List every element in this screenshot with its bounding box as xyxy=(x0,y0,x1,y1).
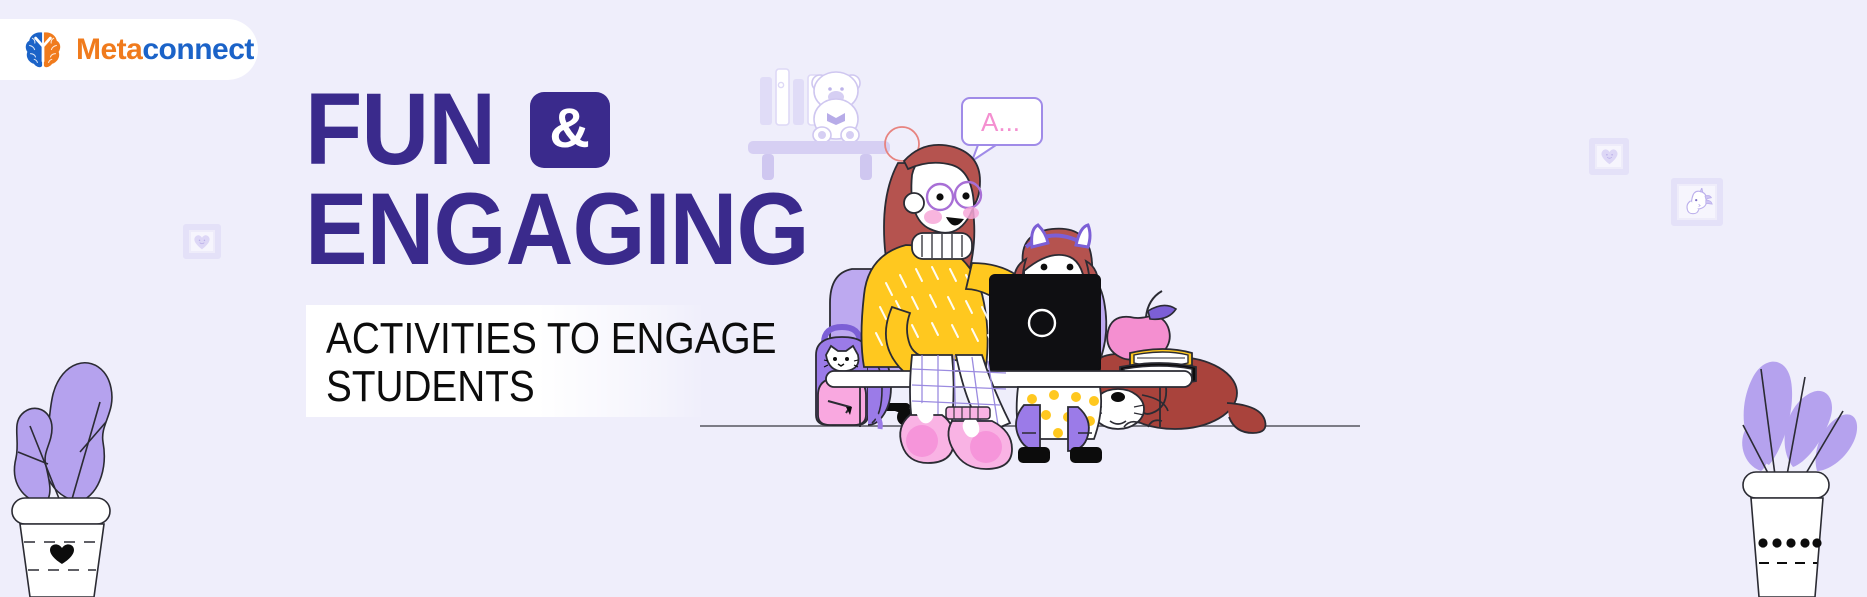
frame-inner xyxy=(1677,184,1717,220)
illustration-students-at-desk: A... xyxy=(700,55,1360,475)
student-legs xyxy=(1016,387,1102,463)
laptop xyxy=(990,275,1100,373)
logo-text-connect: connect xyxy=(142,33,254,66)
potted-plant-left xyxy=(8,292,138,597)
headline-word-fun: FUN xyxy=(305,88,495,172)
logo-text-meta: Meta xyxy=(76,33,142,66)
heart-icon xyxy=(1599,147,1620,166)
speech-bubble-text: A... xyxy=(981,107,1020,137)
frame-inner xyxy=(189,230,215,253)
frame-inner xyxy=(1595,144,1623,169)
potted-plant-right xyxy=(1713,315,1858,597)
unicorn-icon xyxy=(1681,188,1713,217)
heart-frame-icon xyxy=(1589,138,1629,175)
subtitle-line-2: STUDENTS xyxy=(326,363,660,411)
logo-pill[interactable]: Metaconnect xyxy=(0,19,258,80)
subtitle-line-1: ACTIVITIES TO ENGAGE xyxy=(326,315,660,363)
logo-wordmark: Metaconnect xyxy=(76,33,254,67)
heart-frame-icon xyxy=(183,224,221,259)
bookshelf-with-teddy-bear xyxy=(748,69,890,180)
hero-banner: Metaconnect FUN & ENGAGING ACTIVITIES TO… xyxy=(0,0,1867,597)
unicorn-frame-icon xyxy=(1671,178,1723,226)
subtitle-panel: ACTIVITIES TO ENGAGE STUDENTS xyxy=(306,305,706,417)
illustration-svg: A... xyxy=(700,55,1360,475)
brain-icon xyxy=(20,27,66,73)
speech-bubble: A... xyxy=(962,98,1042,161)
heart-icon xyxy=(192,233,212,251)
ampersand-badge: & xyxy=(530,92,610,168)
ampersand-glyph: & xyxy=(549,100,589,156)
